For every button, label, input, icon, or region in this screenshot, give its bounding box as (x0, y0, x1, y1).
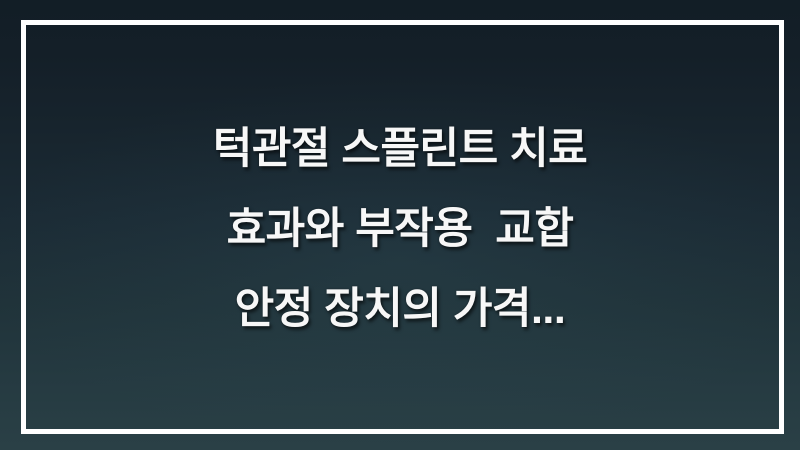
title-line-3: 안정 장치의 가격... (0, 269, 800, 349)
title-line-2: 효과와 부작용 교합 (0, 189, 800, 269)
title-line-1: 턱관절 스플린트 치료 (0, 109, 800, 189)
title-text-block: 턱관절 스플린트 치료 효과와 부작용 교합 안정 장치의 가격... (0, 0, 800, 450)
thumbnail-card: 턱관절 스플린트 치료 효과와 부작용 교합 안정 장치의 가격... (0, 0, 800, 450)
